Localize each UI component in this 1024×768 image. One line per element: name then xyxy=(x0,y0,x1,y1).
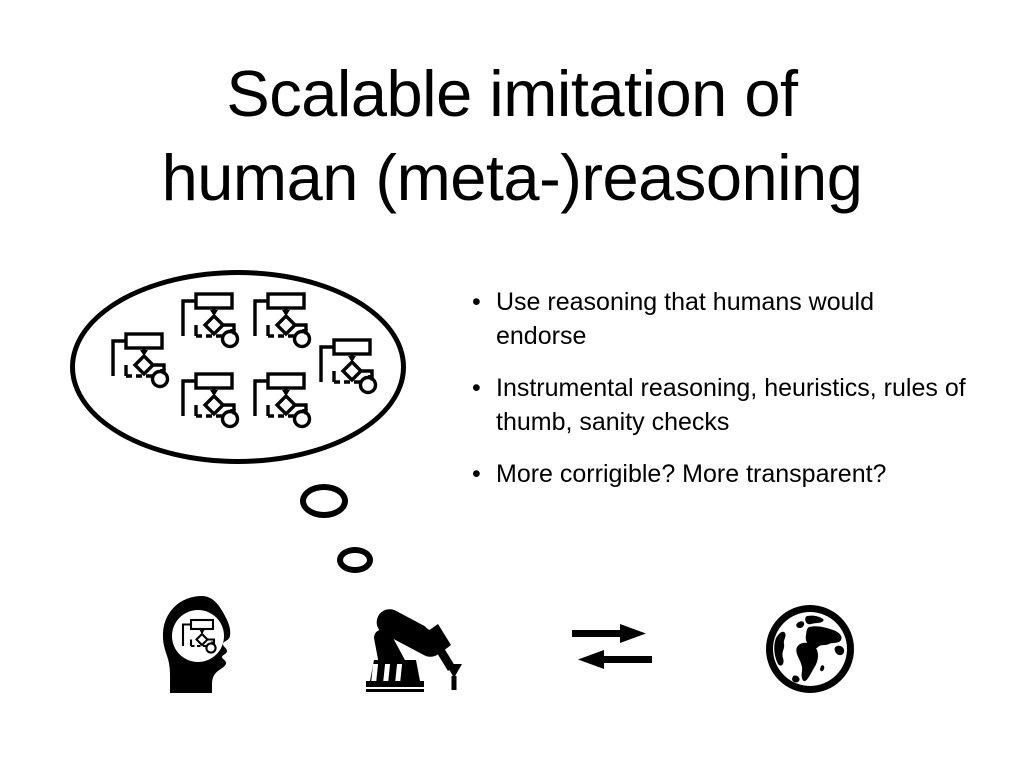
thought-bubble-tail-large xyxy=(300,484,348,518)
flowchart-icon xyxy=(178,370,244,432)
bullet-list: • Use reasoning that humans would endors… xyxy=(466,285,966,509)
list-item: • Use reasoning that humans would endors… xyxy=(466,285,966,353)
thought-bubble-tail-small xyxy=(337,547,373,573)
flowchart-icon xyxy=(178,290,244,352)
list-item: • More corrigible? More transparent? xyxy=(466,457,966,491)
flowchart-icon xyxy=(108,330,174,392)
bidirectional-arrows-icon xyxy=(570,618,654,676)
thought-bubble xyxy=(60,262,410,472)
flowchart-icon xyxy=(250,290,316,352)
list-item: • Instrumental reasoning, heuristics, ru… xyxy=(466,371,966,439)
bullet-marker-icon: • xyxy=(466,371,496,405)
bullet-marker-icon: • xyxy=(466,457,496,491)
list-item-label: Instrumental reasoning, heuristics, rule… xyxy=(496,371,966,439)
flowchart-icon xyxy=(250,370,316,432)
page-title: Scalable imitation of human (meta-)reaso… xyxy=(0,52,1024,220)
list-item-label: Use reasoning that humans would endorse xyxy=(496,285,966,353)
bullet-marker-icon: • xyxy=(466,285,496,319)
globe-icon xyxy=(763,602,857,696)
slide-canvas: Scalable imitation of human (meta-)reaso… xyxy=(0,0,1024,768)
human-head-with-flowchart-icon xyxy=(150,592,254,696)
flowchart-icon xyxy=(316,336,382,398)
robot-arm-icon xyxy=(358,598,474,694)
list-item-label: More corrigible? More transparent? xyxy=(496,457,966,491)
